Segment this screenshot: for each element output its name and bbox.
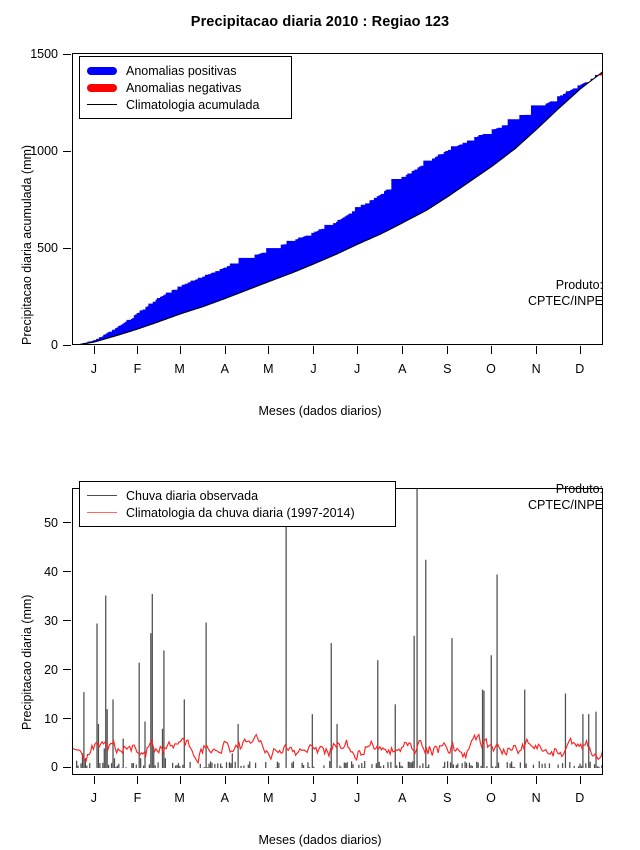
top-x-axis-label: Meses (dados diarios) [0,404,640,418]
xtickmark-A [402,346,403,354]
xtickmark-J [94,346,95,354]
bottom-ytick-0: 0 [14,760,58,774]
top-produto-line1: Produto: [403,278,603,294]
top-ytickmark-500 [63,248,71,249]
xtickmark-M [180,346,181,354]
xtickmark-J [313,346,314,354]
xtick-label-M: M [258,362,278,376]
top-ytickmark-1000 [63,151,71,152]
xtick-label-M: M [258,791,278,805]
legend-label-observed: Chuva diaria observada [126,489,258,503]
xtick-label-M: M [170,362,190,376]
xtickmark-M [180,776,181,784]
bottom-ytickmark-0 [63,767,71,768]
xtickmark-A [225,776,226,784]
bottom-produto-line1: Produto: [403,482,603,498]
xtick-label-A: A [392,362,412,376]
xtickmark-S [447,346,448,354]
red-line-swatch-icon [87,512,117,513]
xtick-label-D: D [570,791,590,805]
xtickmark-N [536,776,537,784]
xtickmark-S [447,776,448,784]
red-swatch-icon [87,84,117,92]
bottom-plot-area [72,488,603,775]
top-legend: Anomalias positivas Anomalias negativas … [79,56,292,119]
page-title: Precipitacao diaria 2010 : Regiao 123 [0,14,640,30]
xtickmark-J [313,776,314,784]
daily-series-svg [73,489,602,774]
legend-item-positive: Anomalias positivas [87,62,283,79]
xtick-label-J: J [303,791,323,805]
xtickmark-D [580,776,581,784]
bottom-ytick-50: 50 [14,516,58,530]
xtick-label-A: A [215,362,235,376]
xtickmark-J [357,346,358,354]
legend-label-negative: Anomalias negativas [126,81,241,95]
xtickmark-O [491,776,492,784]
bottom-ytick-40: 40 [14,565,58,579]
xtickmark-F [137,346,138,354]
bottom-produto-line2: CPTEC/INPE [403,498,603,514]
bottom-legend: Chuva diaria observada Climatologia da c… [79,481,396,527]
bottom-x-axis-label: Meses (dados diarios) [0,833,640,847]
top-ytickmark-0 [63,345,71,346]
xtick-label-N: N [526,791,546,805]
xtick-label-A: A [392,791,412,805]
xtick-label-O: O [481,362,501,376]
top-ytickmark-1500 [63,54,71,55]
legend-label-climatology: Climatologia acumulada [126,98,259,112]
top-produto-line2: CPTEC/INPE [403,294,603,310]
legend-item-climatology: Climatologia acumulada [87,96,283,113]
top-produto-annotation: Produto: CPTEC/INPE [403,278,603,309]
xtick-label-A: A [215,791,235,805]
blue-swatch-icon [87,67,117,75]
xtick-label-D: D [570,362,590,376]
xtickmark-N [536,346,537,354]
xtick-label-F: F [127,791,147,805]
legend-label-daily-climatology: Climatologia da chuva diaria (1997-2014) [126,506,355,520]
xtick-label-J: J [84,791,104,805]
xtickmark-F [137,776,138,784]
gray-line-swatch-icon [87,495,117,496]
legend-item-negative: Anomalias negativas [87,79,283,96]
xtick-label-J: J [303,362,323,376]
xtick-label-O: O [481,791,501,805]
xtick-label-N: N [526,362,546,376]
bottom-ytick-10: 10 [14,712,58,726]
xtick-label-S: S [437,362,457,376]
xtickmark-D [580,346,581,354]
bottom-ytickmark-10 [63,718,71,719]
xtickmark-M [268,346,269,354]
top-ytick-0: 0 [14,338,58,352]
xtickmark-J [357,776,358,784]
top-ytick-1050: 1500 [14,47,58,61]
legend-item-daily-climatology: Climatologia da chuva diaria (1997-2014) [87,504,387,521]
legend-item-observed: Chuva diaria observada [87,487,387,504]
bottom-ytickmark-40 [63,571,71,572]
bottom-ytickmark-30 [63,620,71,621]
xtick-label-F: F [127,362,147,376]
top-ytick-500: 500 [14,241,58,255]
black-line-swatch-icon [87,104,117,105]
xtick-label-M: M [170,791,190,805]
bottom-ytickmark-50 [63,522,71,523]
bottom-produto-annotation: Produto: CPTEC/INPE [403,482,603,513]
top-ytick-1000: 1000 [14,144,58,158]
xtickmark-O [491,346,492,354]
xtick-label-S: S [437,791,457,805]
xtickmark-A [225,346,226,354]
bottom-ytickmark-20 [63,669,71,670]
xtick-label-J: J [347,791,367,805]
xtick-label-J: J [84,362,104,376]
bottom-ytick-20: 20 [14,663,58,677]
xtickmark-M [268,776,269,784]
xtickmark-A [402,776,403,784]
xtick-label-J: J [347,362,367,376]
legend-label-positive: Anomalias positivas [126,64,236,78]
xtickmark-J [94,776,95,784]
bottom-ytick-30: 30 [14,614,58,628]
observed-daily-bars [77,489,602,768]
